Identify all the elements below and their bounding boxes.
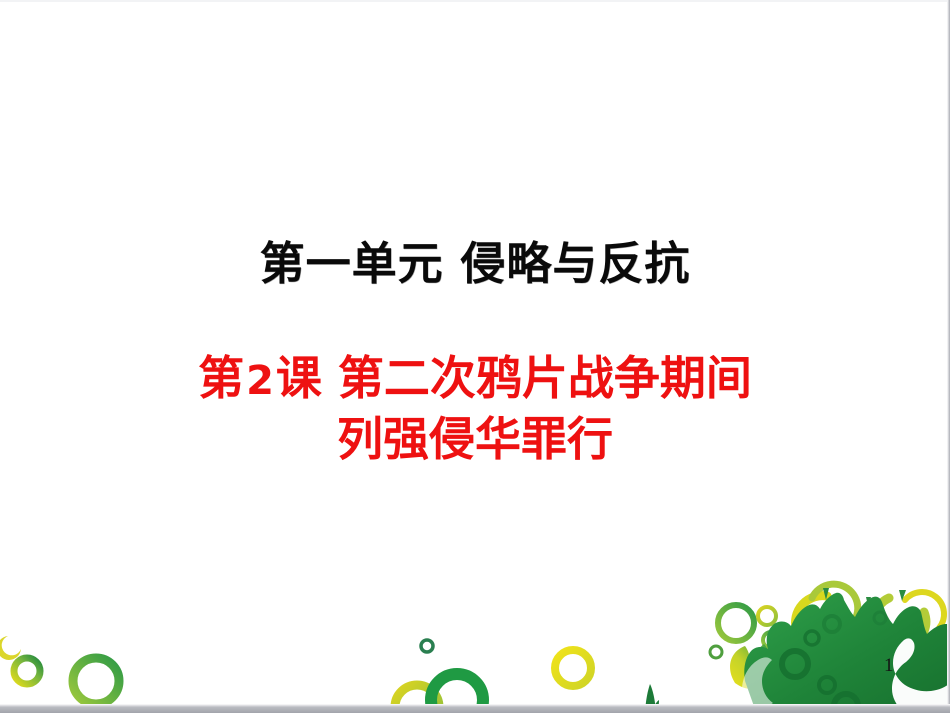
lesson-title-line-2: 列强侵华罪行: [0, 409, 950, 470]
bubble-ring-icon: [763, 632, 779, 648]
unit-title-block: 第一单元 侵略与反抗: [0, 236, 950, 292]
leaf-notch: [892, 638, 950, 712]
bubble-ring-icon: [819, 677, 835, 693]
slide-edge-bottom: [0, 704, 950, 713]
bubble-ring-icon: [73, 658, 119, 704]
bubble-ring-icon: [0, 636, 21, 660]
unit-title: 第一单元 侵略与反抗: [0, 236, 950, 292]
slide-canvas: 第一单元 侵略与反抗 第2课 第二次鸦片战争期间 列强侵华罪行 1: [0, 0, 950, 713]
bubble-ring-icon: [710, 646, 722, 658]
bubble-ring-icon: [874, 612, 886, 624]
maple-leaf-icon: [744, 593, 950, 712]
bubble-ring-icon: [824, 616, 840, 632]
sprout-icon: [866, 597, 871, 606]
bubble-ring-icon: [874, 598, 926, 648]
bubble-ring-icon: [796, 596, 839, 650]
lesson-prefix: 第: [198, 351, 244, 405]
bubble-ring-icon: [805, 631, 819, 645]
slide-edge-top: [0, 0, 950, 2]
lesson-title-line-1: 第2课 第二次鸦片战争期间: [0, 348, 950, 409]
page-number: 1: [884, 655, 894, 677]
lesson-title-block: 第2课 第二次鸦片战争期间 列强侵华罪行: [0, 348, 950, 470]
sprout-icon: [899, 590, 906, 601]
bubble-ring-icon: [14, 658, 40, 684]
sprout-icon: [823, 588, 829, 600]
bubble-ring-icon: [758, 607, 776, 625]
maple-leaf-icon: [730, 644, 771, 689]
bubble-ring-icon: [421, 640, 433, 652]
lesson-suffix: 课 第二次鸦片战争期间: [276, 351, 752, 405]
bubble-ring-icon: [782, 651, 808, 677]
bubble-ring-icon: [905, 592, 944, 628]
bubble-ring-icon: [555, 650, 591, 686]
bubble-ring-icon: [812, 584, 858, 632]
lesson-number: 2: [244, 358, 276, 404]
bubble-ring-icon: [718, 605, 754, 641]
